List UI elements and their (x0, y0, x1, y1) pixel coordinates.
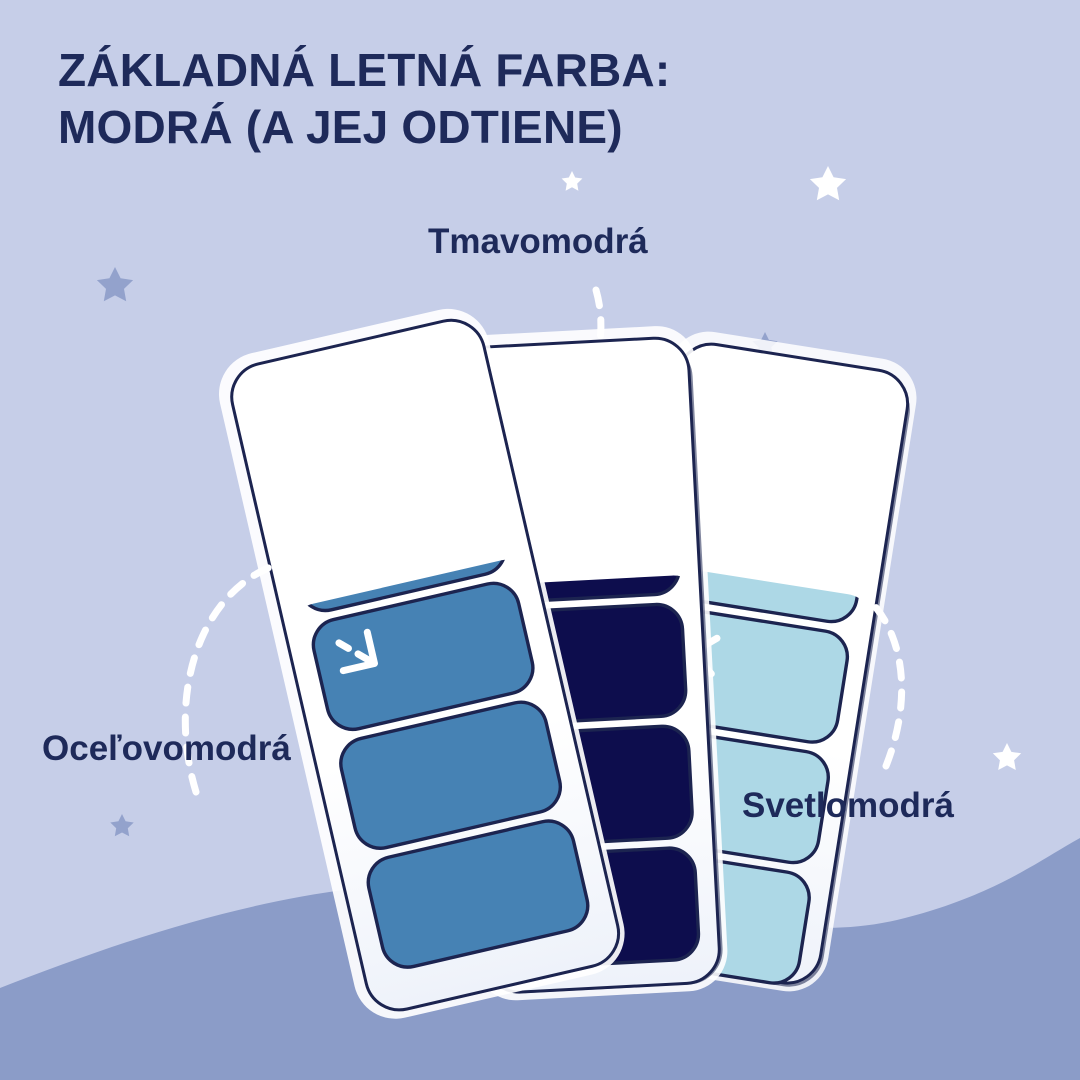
label-tmavomodra: Tmavomodrá (428, 222, 648, 262)
infographic-canvas: ZÁKLADNÁ LETNÁ FARBA: MODRÁ (A JEJ ODTIE… (0, 0, 1080, 1080)
page-title: ZÁKLADNÁ LETNÁ FARBA: MODRÁ (A JEJ ODTIE… (58, 42, 838, 156)
label-ocelovomodra: Oceľovomodrá (42, 729, 291, 769)
palette-fan (0, 0, 1080, 1080)
label-svetlomodra: Svetlomodrá (742, 786, 954, 826)
